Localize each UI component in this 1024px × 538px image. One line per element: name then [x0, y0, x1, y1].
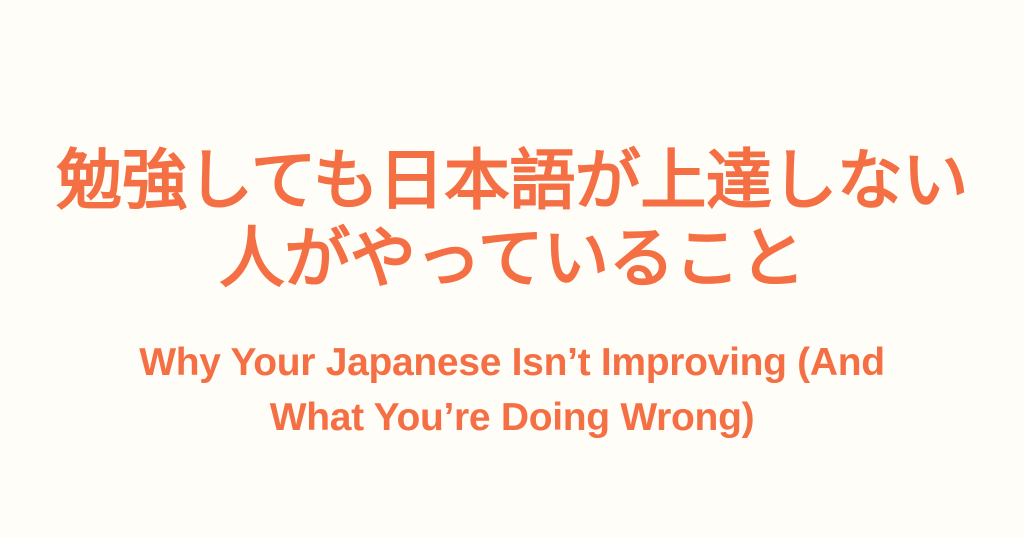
japanese-headline-line-2: 人がやっていること: [0, 220, 1024, 298]
english-subtitle-line-1: Why Your Japanese Isn’t Improving (And: [84, 335, 940, 390]
japanese-headline-line-1: 勉強しても日本語が上達しない: [0, 142, 1024, 220]
japanese-headline: 勉強しても日本語が上達しない 人がやっていること: [0, 142, 1024, 298]
title-card-banner: 勉強しても日本語が上達しない 人がやっていること Why Your Japane…: [0, 0, 1024, 538]
english-subtitle: Why Your Japanese Isn’t Improving (And W…: [0, 335, 1024, 445]
english-subtitle-line-2: What You’re Doing Wrong): [84, 390, 940, 445]
